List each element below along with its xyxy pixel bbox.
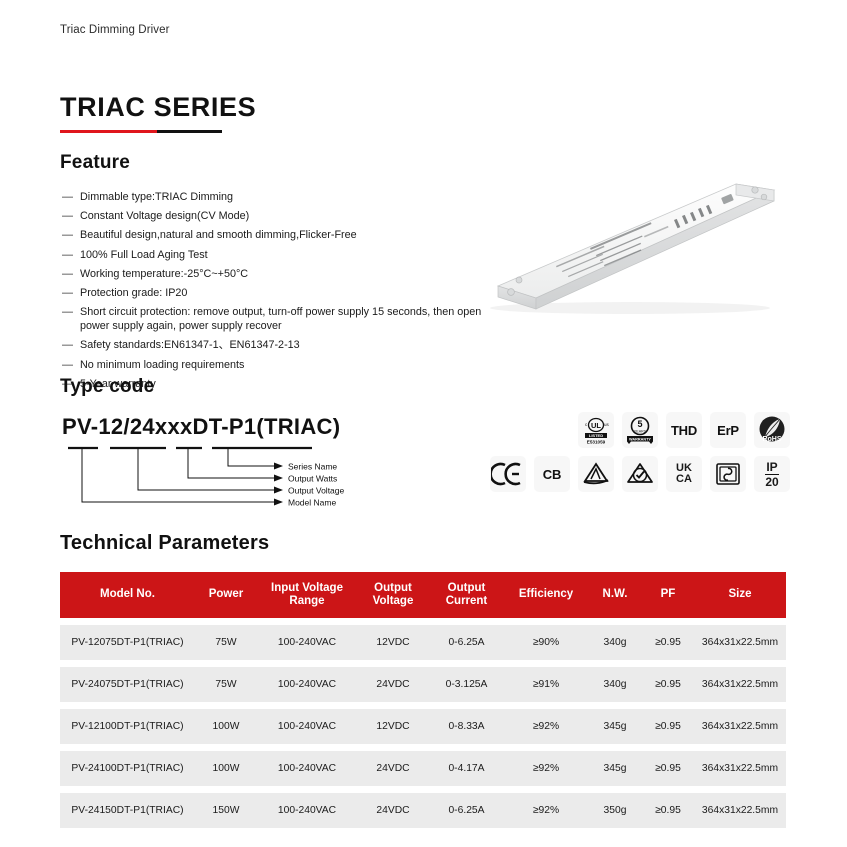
typecode-heading: Type code (60, 376, 154, 398)
running-header: Triac Dimming Driver (60, 24, 170, 36)
cell-output-voltage: 24VDC (357, 679, 429, 690)
feature-dash: — (62, 267, 80, 281)
cell-model: PV-12075DT-P1(TRIAC) (60, 637, 195, 648)
cell-efficiency: ≥92% (504, 805, 588, 816)
cell-input-voltage: 100-240VAC (257, 805, 357, 816)
ip-rating: IP 20 (765, 461, 778, 488)
cell-nw: 345g (588, 763, 642, 774)
column-header-input-voltage: Input Voltage Range (257, 582, 357, 609)
cell-size: 364x31x22.5mm (694, 763, 786, 774)
feature-item: — Dimmable type:TRIAC Dimming (62, 190, 482, 204)
feature-item: — Short circuit protection: remove outpu… (62, 305, 482, 333)
feature-text: 100% Full Load Aging Test (80, 248, 208, 262)
technical-parameters-table: Model No. Power Input Voltage Range Outp… (60, 572, 786, 828)
feature-text: Safety standards:EN61347-1、EN61347-2-13 (80, 338, 300, 352)
feature-dash: — (62, 209, 80, 223)
typecode-label-voltage: Output Voltage (288, 486, 345, 496)
typecode-block: PV-12/24xxxDT-P1(TRIAC) (62, 414, 392, 514)
feature-item: — Constant Voltage design(CV Mode) (62, 209, 482, 223)
ip-value: 20 (765, 475, 778, 488)
product-photo (478, 176, 788, 326)
class2-icon (710, 456, 746, 492)
cell-size: 364x31x22.5mm (694, 805, 786, 816)
svg-text:LISTED: LISTED (589, 433, 603, 438)
cell-efficiency: ≥92% (504, 763, 588, 774)
cell-pf: ≥0.95 (642, 679, 694, 690)
feature-item: — Working temperature:-25°C~+50°C (62, 267, 482, 281)
ce-icon (490, 456, 526, 492)
table-row: PV-24100DT-P1(TRIAC) 100W 100-240VAC 24V… (60, 751, 786, 786)
cell-pf: ≥0.95 (642, 637, 694, 648)
page-title: TRIAC SERIES (60, 92, 256, 123)
typecode-label-watts: Output Watts (288, 474, 337, 484)
ukca-line2: CA (676, 474, 692, 485)
typecode-label-series: Series Name (288, 462, 337, 472)
typecode-breakout-diagram: Series Name Output Watts Output Voltage … (62, 444, 392, 514)
ukca-icon: UK CA (666, 456, 702, 492)
datasheet-page: Triac Dimming Driver TRIAC SERIES Featur… (0, 0, 847, 847)
feature-item: — Protection grade: IP20 (62, 286, 482, 300)
cell-output-current: 0-6.25A (429, 637, 504, 648)
title-underline (60, 130, 222, 133)
thd-icon: THD (666, 412, 702, 448)
feature-item: — No minimum loading requirements (62, 358, 482, 372)
feature-dash: — (62, 228, 80, 242)
svg-text:us: us (604, 422, 610, 427)
eac-triangle-icon (578, 456, 614, 492)
column-header-nw: N.W. (588, 588, 642, 602)
cell-pf: ≥0.95 (642, 721, 694, 732)
table-header-row: Model No. Power Input Voltage Range Outp… (60, 572, 786, 618)
feature-dash: — (62, 190, 80, 204)
cell-model: PV-12100DT-P1(TRIAC) (60, 721, 195, 732)
svg-text:YEARS: YEARS (634, 430, 647, 434)
led-driver-illustration (478, 176, 788, 326)
cell-output-voltage: 12VDC (357, 721, 429, 732)
feature-text: Beautiful design,natural and smooth dimm… (80, 228, 357, 242)
cell-output-voltage: 24VDC (357, 805, 429, 816)
rcm-icon (622, 456, 658, 492)
svg-text:RoHS: RoHS (762, 436, 781, 443)
cell-power: 75W (195, 679, 257, 690)
cell-power: 150W (195, 805, 257, 816)
column-header-output-current: Output Current (429, 582, 504, 609)
erp-icon: ErP (710, 412, 746, 448)
feature-text: Protection grade: IP20 (80, 286, 187, 300)
rohs-icon: RoHS (754, 412, 790, 448)
cell-nw: 340g (588, 679, 642, 690)
title-underline-red (60, 130, 157, 133)
svg-text:UL: UL (591, 421, 601, 430)
feature-item: — 100% Full Load Aging Test (62, 248, 482, 262)
cell-power: 100W (195, 721, 257, 732)
table-row: PV-24150DT-P1(TRIAC) 150W 100-240VAC 24V… (60, 793, 786, 828)
cell-pf: ≥0.95 (642, 805, 694, 816)
cell-output-current: 0-6.25A (429, 805, 504, 816)
ukca-stack: UK CA (676, 463, 692, 485)
svg-text:c: c (585, 422, 588, 427)
cell-efficiency: ≥90% (504, 637, 588, 648)
cell-output-voltage: 12VDC (357, 637, 429, 648)
five-year-warranty-icon: 5 YEARS WARRANTY (622, 412, 658, 448)
column-header-output-voltage: Output Voltage (357, 582, 429, 609)
feature-text: Constant Voltage design(CV Mode) (80, 209, 249, 223)
feature-dash: — (62, 305, 80, 319)
typecode-string: PV-12/24xxxDT-P1(TRIAC) (62, 414, 392, 440)
svg-text:5: 5 (637, 419, 642, 429)
cell-output-current: 0-3.125A (429, 679, 504, 690)
cb-label: CB (543, 467, 561, 482)
cell-nw: 345g (588, 721, 642, 732)
column-header-pf: PF (642, 588, 694, 602)
feature-list: — Dimmable type:TRIAC Dimming — Constant… (62, 190, 482, 396)
cell-power: 100W (195, 763, 257, 774)
svg-text:E531059: E531059 (587, 440, 606, 445)
technical-parameters-heading: Technical Parameters (60, 532, 269, 555)
certification-row-1: UL c us LISTED E531059 5 YEARS WARRANTY (455, 412, 790, 448)
cell-size: 364x31x22.5mm (694, 637, 786, 648)
cell-size: 364x31x22.5mm (694, 721, 786, 732)
cell-efficiency: ≥92% (504, 721, 588, 732)
ip-prefix: IP (765, 461, 778, 475)
ul-listed-icon: UL c us LISTED E531059 (578, 412, 614, 448)
feature-text: No minimum loading requirements (80, 358, 244, 372)
cell-nw: 340g (588, 637, 642, 648)
column-header-size: Size (694, 588, 786, 602)
ip20-icon: IP 20 (754, 456, 790, 492)
cell-input-voltage: 100-240VAC (257, 721, 357, 732)
cell-model: PV-24075DT-P1(TRIAC) (60, 679, 195, 690)
cell-size: 364x31x22.5mm (694, 679, 786, 690)
cell-pf: ≥0.95 (642, 763, 694, 774)
page-title-block: TRIAC SERIES (60, 92, 256, 133)
cb-icon: CB (534, 456, 570, 492)
table-row: PV-12075DT-P1(TRIAC) 75W 100-240VAC 12VD… (60, 625, 786, 660)
cell-output-current: 0-8.33A (429, 721, 504, 732)
feature-heading: Feature (60, 152, 130, 174)
table-row: PV-24075DT-P1(TRIAC) 75W 100-240VAC 24VD… (60, 667, 786, 702)
feature-text: Short circuit protection: remove output,… (80, 305, 482, 333)
cell-model: PV-24100DT-P1(TRIAC) (60, 763, 195, 774)
feature-text: Dimmable type:TRIAC Dimming (80, 190, 233, 204)
cell-model: PV-24150DT-P1(TRIAC) (60, 805, 195, 816)
typecode-label-model: Model Name (288, 498, 336, 508)
svg-text:WARRANTY: WARRANTY (629, 437, 651, 441)
column-header-efficiency: Efficiency (504, 588, 588, 602)
cell-input-voltage: 100-240VAC (257, 679, 357, 690)
cell-input-voltage: 100-240VAC (257, 763, 357, 774)
cell-power: 75W (195, 637, 257, 648)
cell-nw: 350g (588, 805, 642, 816)
feature-dash: — (62, 358, 80, 372)
feature-item: — Beautiful design,natural and smooth di… (62, 228, 482, 242)
feature-item: — Safety standards:EN61347-1、EN61347-2-1… (62, 338, 482, 352)
feature-text: Working temperature:-25°C~+50°C (80, 267, 248, 281)
cell-efficiency: ≥91% (504, 679, 588, 690)
cell-output-current: 0-4.17A (429, 763, 504, 774)
feature-dash: — (62, 338, 80, 352)
table-row: PV-12100DT-P1(TRIAC) 100W 100-240VAC 12V… (60, 709, 786, 744)
cell-input-voltage: 100-240VAC (257, 637, 357, 648)
column-header-power: Power (195, 588, 257, 602)
thd-label: THD (671, 423, 697, 438)
feature-dash: — (62, 248, 80, 262)
cell-output-voltage: 24VDC (357, 763, 429, 774)
erp-label: ErP (717, 423, 739, 438)
certification-row-2: CB UK CA (455, 456, 790, 492)
feature-dash: — (62, 286, 80, 300)
column-header-model: Model No. (60, 588, 195, 602)
title-underline-black (157, 130, 222, 133)
certification-badges: UL c us LISTED E531059 5 YEARS WARRANTY (455, 412, 790, 500)
